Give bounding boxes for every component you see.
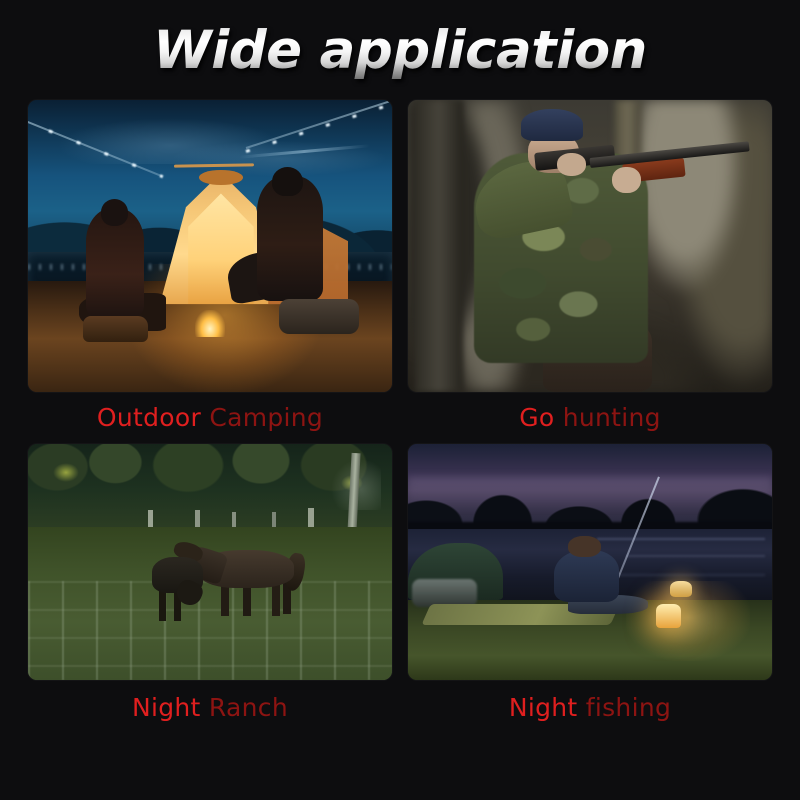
caption-weak-text: fishing bbox=[578, 693, 672, 723]
caption-night-fishing: Night fishing bbox=[408, 680, 772, 736]
caption-strong-text: Night bbox=[132, 693, 201, 723]
camper-right-head bbox=[272, 167, 303, 196]
caption-strong-text: Outdoor bbox=[97, 403, 201, 433]
page-title-container: Wide application bbox=[0, 22, 800, 80]
angler-head bbox=[568, 536, 601, 557]
caption-strong-text: Go bbox=[519, 403, 554, 433]
camper-left-head bbox=[101, 199, 128, 225]
rock bbox=[83, 316, 149, 342]
wildflowers bbox=[28, 581, 392, 680]
wide-application-page: Wide application bbox=[0, 0, 800, 800]
caption-strong-text: Night bbox=[509, 693, 578, 723]
panel-outdoor-camping[interactable] bbox=[28, 100, 392, 392]
photo-go-hunting bbox=[408, 100, 772, 392]
panel-night-ranch[interactable] bbox=[28, 444, 392, 680]
caption-weak-text: Camping bbox=[201, 403, 323, 433]
caption-outdoor-camping: Outdoor Camping bbox=[28, 392, 392, 444]
photo-outdoor-camping bbox=[28, 100, 392, 392]
sleeping-bag bbox=[279, 299, 359, 334]
panel-night-fishing[interactable] bbox=[408, 444, 772, 680]
caption-night-ranch: Night Ranch bbox=[28, 680, 392, 736]
caption-weak-text: Ranch bbox=[201, 693, 288, 723]
angler-body bbox=[554, 550, 620, 602]
water-ripple-1 bbox=[597, 538, 764, 540]
panel-go-hunting[interactable] bbox=[408, 100, 772, 392]
beanie-icon bbox=[521, 109, 583, 141]
application-grid: Outdoor Camping Go hunting bbox=[28, 100, 772, 736]
tent-vent bbox=[199, 170, 243, 185]
yellow-foliage-left bbox=[53, 463, 78, 482]
tree-trunk-left bbox=[415, 100, 462, 392]
lantern-icon bbox=[656, 604, 681, 628]
photo-night-ranch bbox=[28, 444, 392, 680]
fishing-gear bbox=[412, 579, 478, 607]
lantern-upper bbox=[670, 581, 692, 598]
water-ripple-2 bbox=[626, 555, 764, 557]
hunter-trigger-hand bbox=[557, 153, 586, 176]
water-ripple-3 bbox=[612, 574, 765, 576]
photo-night-fishing bbox=[408, 444, 772, 680]
foal-leg-1 bbox=[159, 590, 166, 621]
caption-go-hunting: Go hunting bbox=[408, 392, 772, 444]
hunter-support-hand bbox=[612, 167, 641, 193]
caption-weak-text: hunting bbox=[554, 403, 660, 433]
page-title: Wide application bbox=[153, 22, 647, 80]
campfire-flame bbox=[195, 310, 224, 336]
